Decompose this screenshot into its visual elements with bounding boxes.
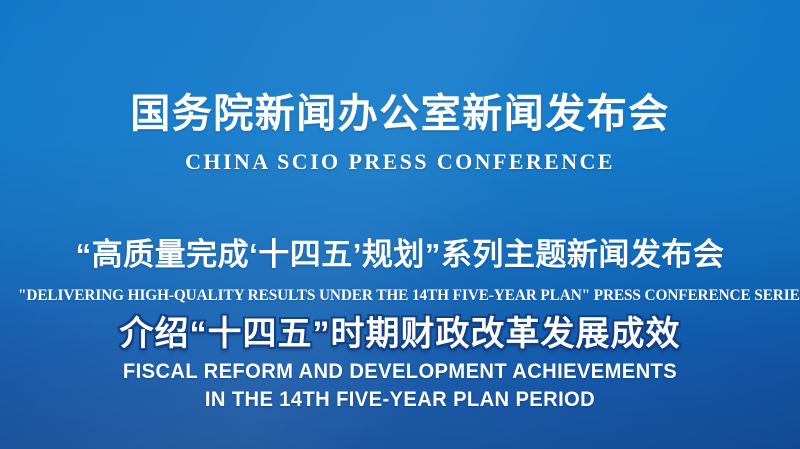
banner-content: 国务院新闻办公室新闻发布会 CHINA SCIO PRESS CONFERENC… bbox=[0, 0, 800, 449]
series-title-chinese: “高质量完成‘十四五’规划”系列主题新闻发布会 bbox=[0, 236, 800, 274]
series-title-english: "DELIVERING HIGH-QUALITY RESULTS UNDER T… bbox=[18, 286, 782, 305]
press-conference-banner: 国务院新闻办公室新闻发布会 CHINA SCIO PRESS CONFERENC… bbox=[0, 0, 800, 449]
organization-title-english: CHINA SCIO PRESS CONFERENCE bbox=[0, 148, 800, 175]
topic-title-english: FISCAL REFORM AND DEVELOPMENT ACHIEVEMEN… bbox=[16, 358, 784, 414]
topic-title-english-line-2: IN THE 14TH FIVE-YEAR PLAN PERIOD bbox=[16, 386, 784, 414]
topic-title-english-line-1: FISCAL REFORM AND DEVELOPMENT ACHIEVEMEN… bbox=[16, 358, 784, 386]
topic-title-chinese: 介绍“十四五”时期财政改革发展成效 bbox=[0, 313, 800, 355]
organization-title-chinese: 国务院新闻办公室新闻发布会 bbox=[0, 91, 800, 137]
